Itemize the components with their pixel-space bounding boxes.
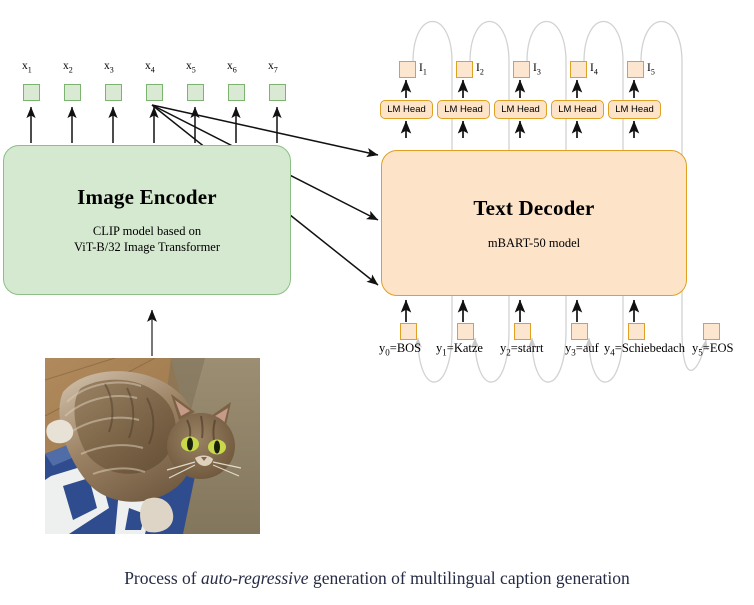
image-token-label: x5 <box>186 60 196 74</box>
image-token-index: 6 <box>233 65 237 74</box>
image-token-label: x3 <box>104 60 114 74</box>
output-token-index: 5 <box>651 67 655 76</box>
image-token-label: x2 <box>63 60 73 74</box>
image-token-index: 1 <box>28 65 32 74</box>
input-token-value: Schiebedach <box>622 341 685 355</box>
cat-photo-graphic <box>45 358 260 534</box>
image-token-square <box>228 84 245 101</box>
input-token-square <box>628 323 645 340</box>
output-token-label: I4 <box>590 62 598 76</box>
lm-head-box: LM Head <box>608 100 661 119</box>
output-token-index: 2 <box>480 67 484 76</box>
lm-head-box: LM Head <box>551 100 604 119</box>
image-encoder-subtitle: CLIP model based on ViT-B/32 Image Trans… <box>74 223 220 255</box>
input-token-value: Katze <box>454 341 483 355</box>
input-to-decoder-arrows <box>406 300 634 322</box>
lm-head-box: LM Head <box>437 100 490 119</box>
lmhead-to-output-arrows <box>406 80 634 98</box>
input-token-value: starrt <box>518 341 544 355</box>
image-token-square <box>105 84 122 101</box>
input-token-label: y0=BOS <box>379 341 421 358</box>
output-token-square <box>399 61 416 78</box>
image-token-square <box>23 84 40 101</box>
output-token-index: 4 <box>594 67 598 76</box>
image-token-index: 2 <box>69 65 73 74</box>
encoder-to-token-arrows <box>31 107 277 143</box>
input-token-label: y2=starrt <box>500 341 544 358</box>
image-encoder-subtitle-line2: ViT-B/32 Image Transformer <box>74 239 220 255</box>
output-token-label: I5 <box>647 62 655 76</box>
output-token-index: 3 <box>537 67 541 76</box>
input-token-label: y3=auf <box>565 341 599 358</box>
input-token-square <box>571 323 588 340</box>
input-token-index: 1 <box>442 348 447 358</box>
input-token-value: BOS <box>397 341 421 355</box>
caption-after: generation of multilingual caption gener… <box>309 568 630 588</box>
image-token-square <box>187 84 204 101</box>
input-token-square <box>400 323 417 340</box>
image-token-label: x4 <box>145 60 155 74</box>
image-encoder-block: Image Encoder CLIP model based on ViT-B/… <box>3 145 291 295</box>
image-token-square <box>64 84 81 101</box>
diagram-canvas: Image Encoder CLIP model based on ViT-B/… <box>0 0 754 605</box>
output-token-square <box>570 61 587 78</box>
image-token-label: x7 <box>268 60 278 74</box>
image-token-label: x1 <box>22 60 32 74</box>
output-token-label: I2 <box>476 62 484 76</box>
input-token-index: 3 <box>571 348 576 358</box>
image-token-index: 4 <box>151 65 155 74</box>
image-token-square <box>269 84 286 101</box>
figure-caption: Process of auto-regressive generation of… <box>0 568 754 589</box>
input-token-index: 0 <box>385 348 390 358</box>
input-token-value: auf <box>583 341 599 355</box>
caption-emphasis: auto-regressive <box>201 568 309 588</box>
output-token-square <box>627 61 644 78</box>
input-image-photo <box>45 358 260 534</box>
caption-before: Process of <box>124 568 201 588</box>
image-token-index: 3 <box>110 65 114 74</box>
output-token-square <box>456 61 473 78</box>
image-encoder-subtitle-line1: CLIP model based on <box>74 223 220 239</box>
image-token-index: 5 <box>192 65 196 74</box>
input-token-label: y1=Katze <box>436 341 483 358</box>
image-token-label: x6 <box>227 60 237 74</box>
output-token-index: 1 <box>423 67 427 76</box>
input-token-index: 4 <box>610 348 615 358</box>
text-decoder-title: Text Decoder <box>473 196 594 221</box>
lm-head-box: LM Head <box>494 100 547 119</box>
input-token-label: y4=Schiebedach <box>604 341 685 358</box>
input-token-square <box>703 323 720 340</box>
decoder-to-lmhead-arrows <box>406 121 634 138</box>
image-token-index: 7 <box>274 65 278 74</box>
input-token-square <box>514 323 531 340</box>
input-token-square <box>457 323 474 340</box>
input-token-index: 5 <box>698 348 703 358</box>
output-token-label: I1 <box>419 62 427 76</box>
image-encoder-title: Image Encoder <box>77 185 217 210</box>
output-token-square <box>513 61 530 78</box>
text-decoder-subtitle: mBART-50 model <box>488 235 580 251</box>
text-decoder-block: Text Decoder mBART-50 model <box>381 150 687 296</box>
lm-head-box: LM Head <box>380 100 433 119</box>
input-token-index: 2 <box>506 348 511 358</box>
output-token-label: I3 <box>533 62 541 76</box>
image-token-square <box>146 84 163 101</box>
input-token-label: y5=EOS <box>692 341 733 358</box>
input-token-value: EOS <box>710 341 734 355</box>
